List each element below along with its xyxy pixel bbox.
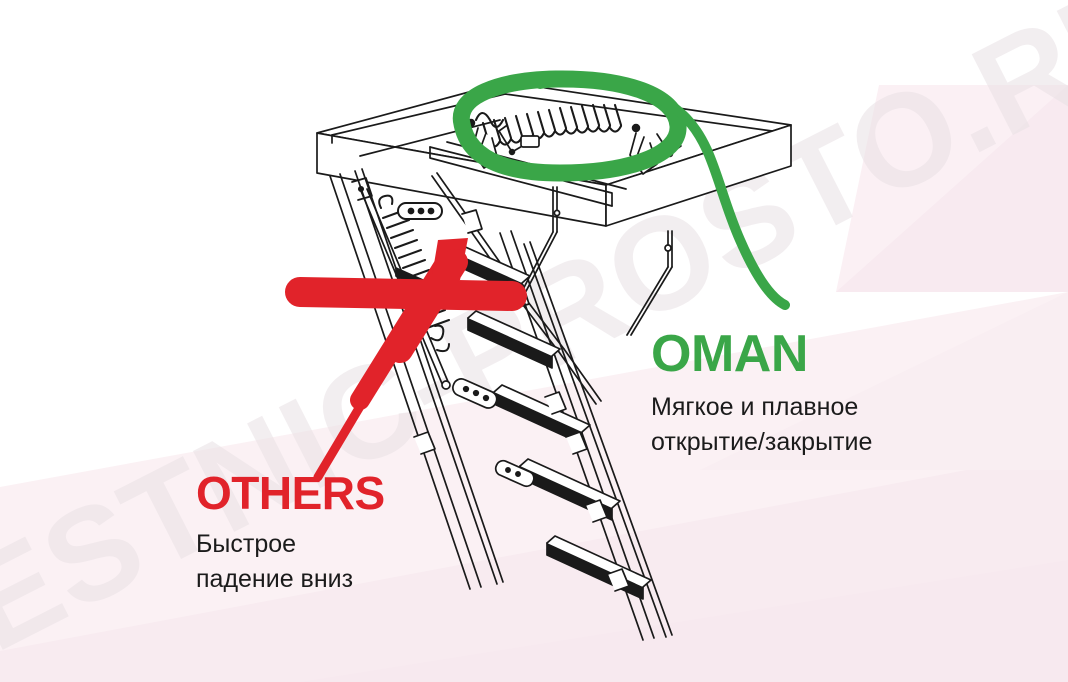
promo-illustration-canvas: LESTNIC-PROSTO.RU bbox=[0, 0, 1068, 682]
others-description-line-1: Быстрое bbox=[196, 527, 385, 562]
red-arrow-annotation bbox=[300, 238, 512, 477]
oman-description-line-1: Мягкое и плавное bbox=[651, 390, 872, 425]
green-circle-annotation bbox=[461, 79, 785, 305]
others-description-line-2: падение вниз bbox=[196, 562, 385, 597]
others-description: Быстрое падение вниз bbox=[196, 527, 385, 596]
annotation-marks bbox=[0, 0, 1068, 682]
oman-description-line-2: открытие/закрытие bbox=[651, 425, 872, 460]
oman-title: OMAN bbox=[651, 328, 872, 380]
others-title: OTHERS bbox=[196, 470, 385, 516]
oman-label-block: OMAN Мягкое и плавное открытие/закрытие bbox=[651, 328, 872, 459]
others-label-block: OTHERS Быстрое падение вниз bbox=[196, 470, 385, 596]
oman-description: Мягкое и плавное открытие/закрытие bbox=[651, 390, 872, 459]
